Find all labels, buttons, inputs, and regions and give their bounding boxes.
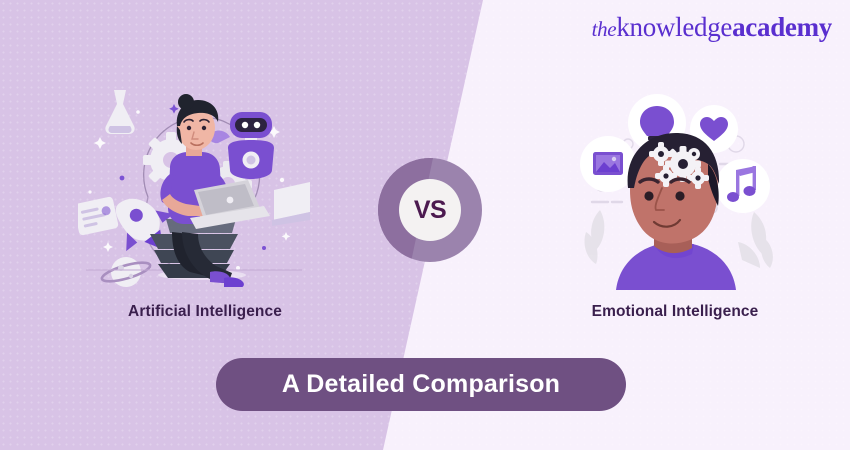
- brand-logo[interactable]: theknowledgeacademy: [592, 14, 832, 41]
- eye-right-icon: [675, 191, 684, 200]
- music-note-bubble-icon: [716, 159, 770, 213]
- banner-label: A Detailed Comparison: [282, 370, 560, 399]
- tablet-icon: [78, 196, 119, 236]
- comparison-infographic: theknowledgeacademy: [0, 0, 850, 450]
- flask-icon: [105, 90, 134, 134]
- vs-inner-circle: VS: [399, 179, 461, 241]
- logo-word-the: the: [592, 17, 617, 41]
- emotional-intelligence-illustration: [568, 92, 782, 290]
- detailed-comparison-banner[interactable]: A Detailed Comparison: [216, 358, 626, 411]
- vs-label: VS: [414, 196, 446, 225]
- left-caption: Artificial Intelligence: [60, 303, 350, 321]
- artificial-intelligence-illustration: [78, 82, 310, 287]
- picture-bubble-icon: [580, 136, 636, 192]
- logo-word-academy: academy: [732, 12, 832, 42]
- vs-badge: VS: [378, 158, 482, 262]
- right-caption: Emotional Intelligence: [530, 303, 820, 321]
- planet-icon: [100, 257, 152, 287]
- logo-word-knowledge: knowledge: [616, 12, 732, 42]
- eye-left-icon: [644, 191, 653, 200]
- floating-laptop-icon: [272, 182, 310, 226]
